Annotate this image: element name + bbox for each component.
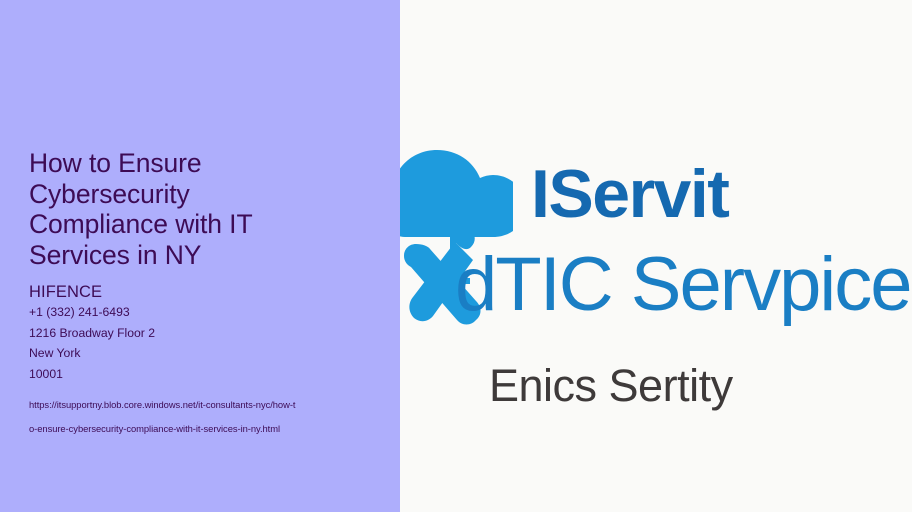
logo-word-top: IServit: [531, 156, 728, 232]
logo-tagline: Enics Sertity: [489, 358, 733, 414]
page-title: How to Ensure Cybersecurity Compliance w…: [29, 148, 329, 270]
article-preview-card: IServit dTIC Servpice Enics Sertity How …: [0, 0, 912, 512]
source-url-line-1: https://itsupportny.blob.core.windows.ne…: [29, 393, 374, 417]
phone-number: +1 (332) 241-6493: [29, 302, 374, 323]
source-url-line-2: o-ensure-cybersecurity-compliance-with-i…: [29, 417, 374, 441]
address-city: New York: [29, 343, 374, 364]
company-name: HIFENCE: [29, 282, 374, 302]
address-line-1: 1216 Broadway Floor 2: [29, 323, 374, 344]
logo-word-bottom: dTIC Servpice: [455, 242, 911, 328]
info-panel: How to Ensure Cybersecurity Compliance w…: [0, 0, 400, 512]
info-content: How to Ensure Cybersecurity Compliance w…: [29, 148, 374, 441]
source-url[interactable]: https://itsupportny.blob.core.windows.ne…: [29, 393, 374, 441]
address-zip: 10001: [29, 364, 374, 385]
